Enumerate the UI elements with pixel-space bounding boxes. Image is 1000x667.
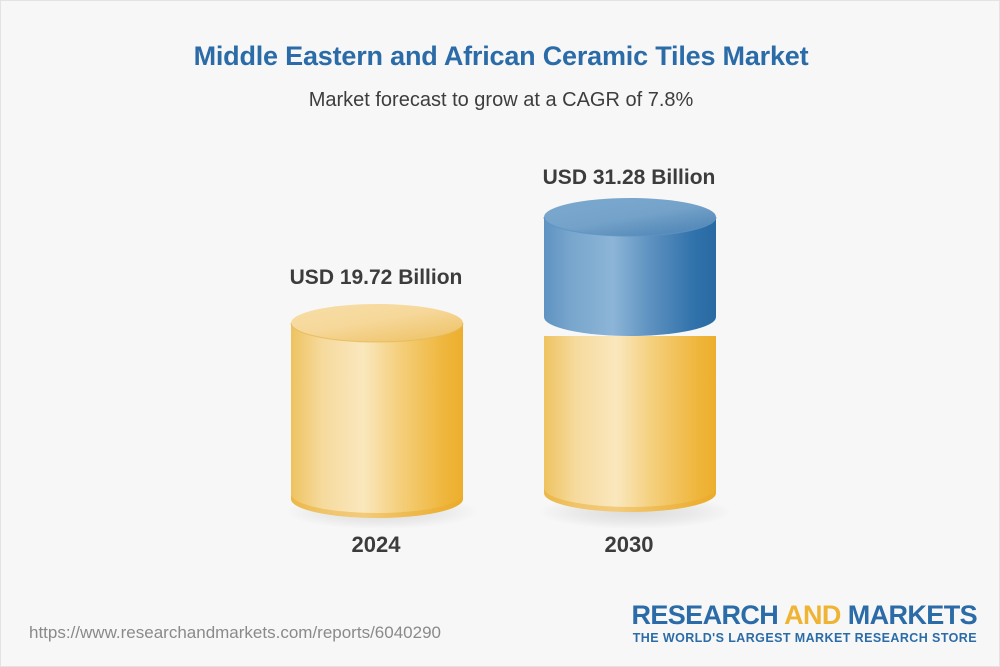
logo-and-text: AND: [784, 600, 841, 630]
logo-research-text: RESEARCH: [631, 600, 784, 630]
cylinder-2030: [535, 193, 735, 520]
value-label-2030: USD 31.28 Billion: [509, 166, 749, 190]
category-label-2030: 2030: [509, 532, 749, 558]
logo-tagline: THE WORLD'S LARGEST MARKET RESEARCH STOR…: [631, 631, 977, 645]
category-label-2024: 2024: [256, 532, 496, 558]
chart-canvas: Middle Eastern and African Ceramic Tiles…: [0, 0, 1000, 667]
page-subtitle: Market forecast to grow at a CAGR of 7.8…: [1, 89, 1000, 112]
page-title: Middle Eastern and African Ceramic Tiles…: [1, 41, 1000, 72]
logo-markets-text: MARKETS: [841, 600, 977, 630]
cylinder-2024: [282, 296, 482, 526]
research-and-markets-logo[interactable]: RESEARCH AND MARKETS THE WORLD'S LARGEST…: [631, 601, 977, 645]
value-label-2024: USD 19.72 Billion: [256, 266, 496, 290]
report-url[interactable]: https://www.researchandmarkets.com/repor…: [29, 623, 441, 643]
logo-wordmark: RESEARCH AND MARKETS: [631, 601, 977, 629]
